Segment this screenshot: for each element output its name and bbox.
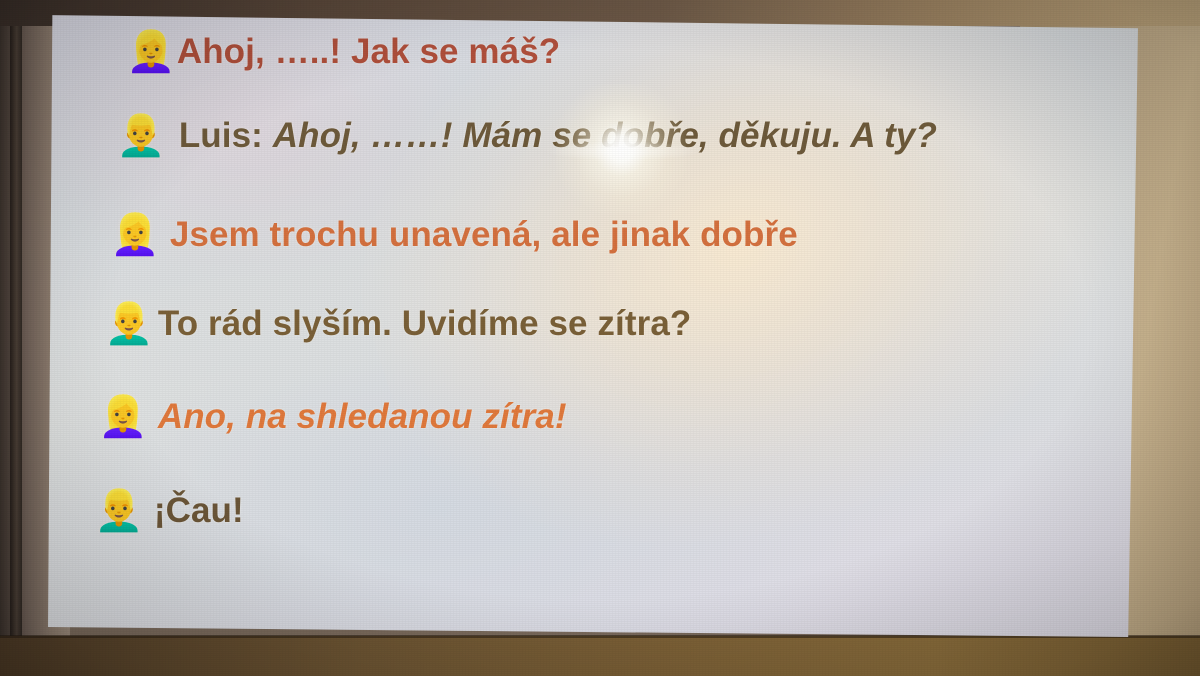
blonde-woman-emoji: 👱‍♀️	[126, 32, 176, 72]
dialogue-line: 👱‍♀️ Jsem trochu unavená, ale jinak dobř…	[110, 215, 798, 255]
dialogue-line: 👱‍♀️ Ahoj, …..! Jak se máš?	[126, 32, 560, 72]
dialogue-text-body: Ahoj, ……! Mám se dobře, děkuju. A ty?	[273, 116, 937, 155]
dialogue-text: Ahoj, …..! Jak se máš?	[177, 32, 560, 72]
dialogue-line: 👱‍♀️ Ano, na shledanou zítra!	[98, 397, 567, 437]
photo-canvas: 👱‍♀️ Ahoj, …..! Jak se máš? 👱‍♂️ Luis: A…	[0, 0, 1200, 676]
blonde-woman-emoji: 👱‍♀️	[98, 397, 148, 437]
blonde-man-emoji: 👱‍♂️	[104, 304, 154, 344]
baseboard	[0, 636, 1200, 676]
dialogue-text: ¡Čau!	[154, 491, 244, 531]
dialogue-line: 👱‍♂️ ¡Čau!	[94, 491, 244, 531]
blonde-woman-emoji: 👱‍♀️	[110, 215, 160, 255]
dialogue-text: Ano, na shledanou zítra!	[158, 397, 567, 437]
blonde-man-emoji: 👱‍♂️	[94, 491, 144, 531]
door-frame-edge	[10, 0, 22, 676]
dialogue-text: Jsem trochu unavená, ale jinak dobře	[170, 215, 798, 255]
projection-screen: 👱‍♀️ Ahoj, …..! Jak se máš? 👱‍♂️ Luis: A…	[48, 12, 1138, 637]
blonde-man-emoji: 👱‍♂️	[116, 116, 166, 156]
dialogue-text: Luis: Ahoj, ……! Mám se dobře, děkuju. A …	[179, 116, 937, 156]
speaker-name-label: Luis:	[179, 116, 273, 155]
dialogue-line: 👱‍♂️ To rád slyším. Uvidíme se zítra?	[104, 304, 691, 344]
dialogue-list: 👱‍♀️ Ahoj, …..! Jak se máš? 👱‍♂️ Luis: A…	[48, 12, 1138, 637]
dialogue-text: To rád slyším. Uvidíme se zítra?	[158, 304, 692, 344]
dialogue-line: 👱‍♂️ Luis: Ahoj, ……! Mám se dobře, děkuj…	[116, 116, 937, 156]
